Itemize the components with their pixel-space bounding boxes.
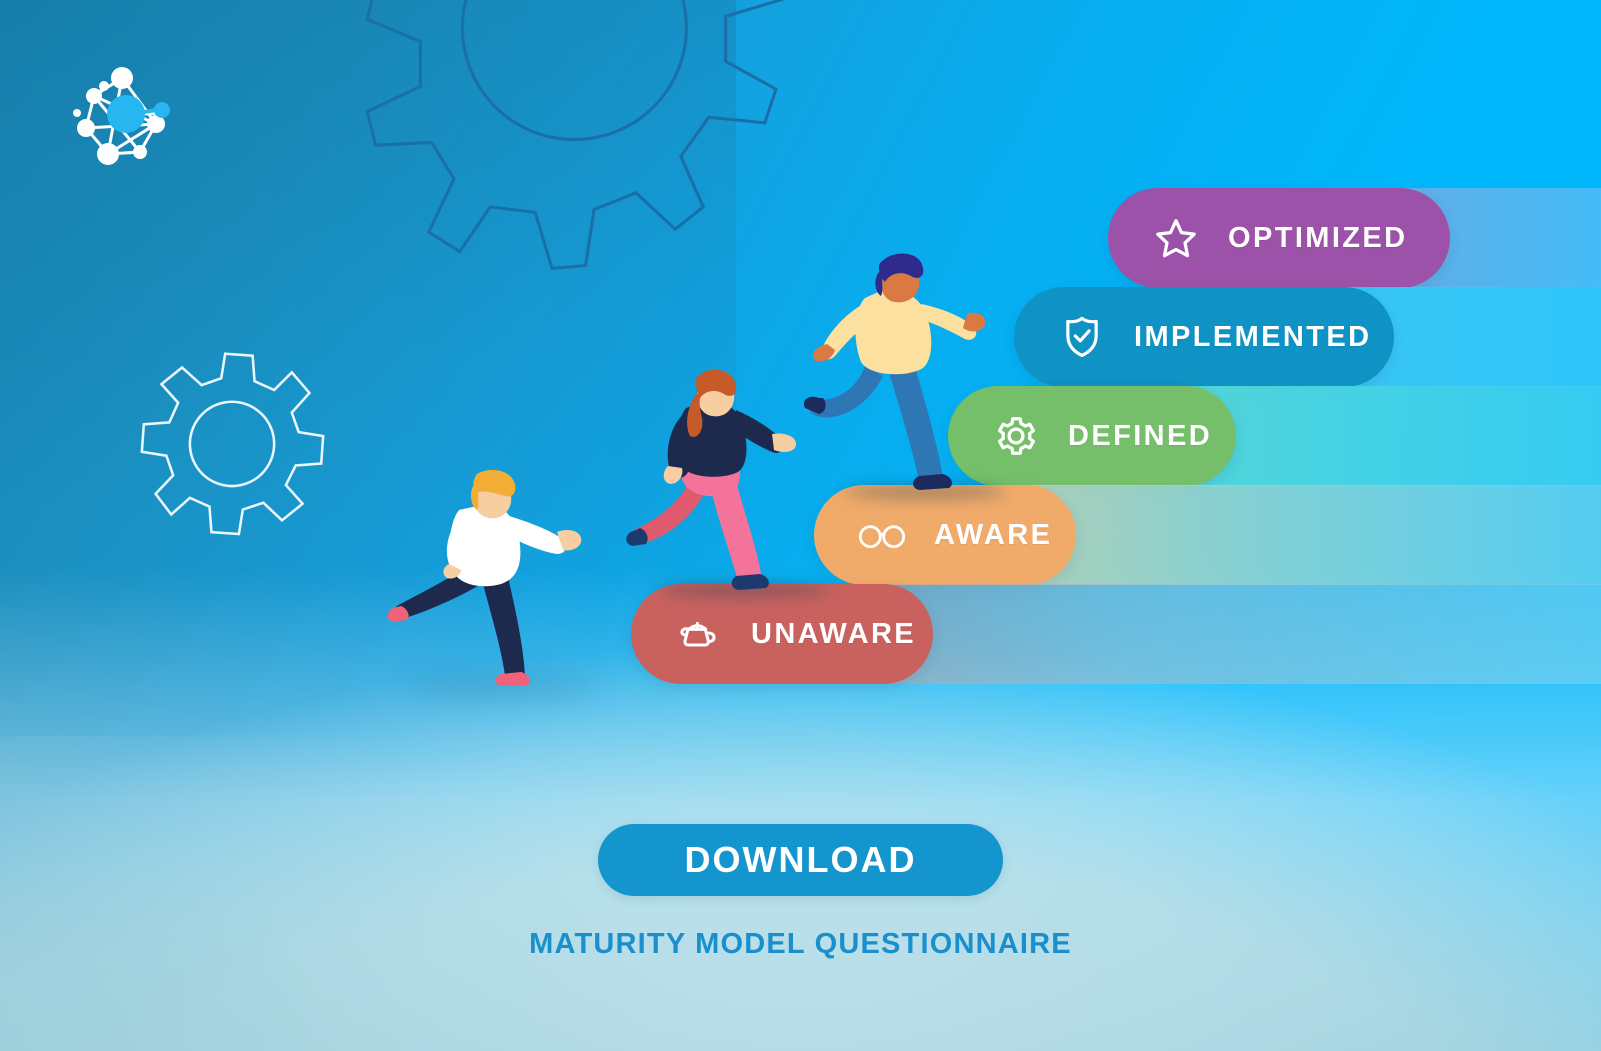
pill-label-optimized: OPTIMIZED — [1228, 222, 1408, 255]
pill-optimized[interactable]: OPTIMIZED — [1108, 188, 1450, 288]
pill-label-defined: DEFINED — [1068, 420, 1212, 453]
cta-section: DOWNLOAD MATURITY MODEL QUESTIONNAIRE — [0, 824, 1601, 961]
pill-implemented[interactable]: IMPLEMENTED — [1014, 287, 1394, 387]
brand-logo[interactable] — [64, 58, 176, 170]
pill-label-aware: AWARE — [934, 519, 1052, 552]
shield-check-icon — [1056, 311, 1108, 363]
pill-label-implemented: IMPLEMENTED — [1134, 321, 1371, 354]
star-icon — [1150, 212, 1202, 264]
network-nodes-logo — [64, 58, 176, 170]
pill-label-unaware: UNAWARE — [751, 618, 916, 651]
teapot-icon — [673, 608, 725, 660]
download-button[interactable]: DOWNLOAD — [598, 824, 1003, 896]
gear-icon — [990, 410, 1042, 462]
cta-subtitle: MATURITY MODEL QUESTIONNAIRE — [529, 928, 1072, 961]
poster-canvas: OPTIMIZED IMPLEMENTED — [0, 0, 1601, 1051]
pill-aware[interactable]: AWARE — [814, 485, 1076, 585]
glasses-icon — [856, 509, 908, 561]
pill-defined[interactable]: DEFINED — [948, 386, 1236, 486]
pill-unaware[interactable]: UNAWARE — [631, 584, 933, 684]
